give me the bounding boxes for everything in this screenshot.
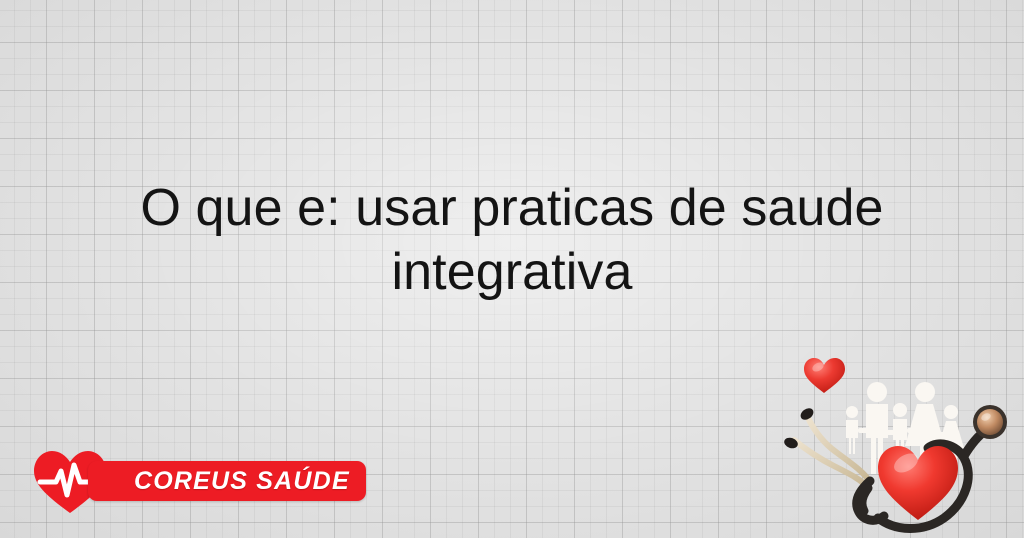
brand-name-label: COREUS SAÚDE bbox=[134, 467, 350, 496]
stethoscope-chestpiece-icon bbox=[973, 405, 1007, 439]
brand-logo: COREUS SAÚDE bbox=[30, 447, 360, 515]
health-family-stethoscope-illustration bbox=[778, 348, 1024, 538]
page-title-text: O que e: usar praticas de saude integrat… bbox=[90, 176, 934, 304]
brand-name-badge: COREUS SAÚDE bbox=[88, 461, 366, 501]
small-heart-icon bbox=[804, 358, 845, 393]
large-heart-icon bbox=[878, 446, 958, 520]
slide-canvas: O que e: usar praticas de saude integrat… bbox=[0, 0, 1024, 538]
page-title: O que e: usar praticas de saude integrat… bbox=[0, 176, 1024, 304]
